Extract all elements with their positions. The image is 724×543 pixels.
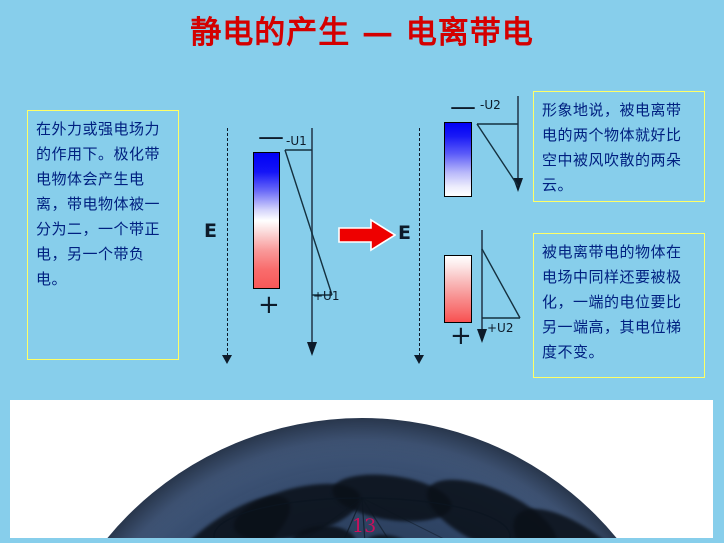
potential-label-negative-left: -U1 [286,135,307,148]
field-label-left: E [204,221,217,241]
minus-sign-right: — [450,94,476,120]
polarized-bar-left [253,152,280,289]
transition-arrow-icon [338,218,396,252]
field-line-left [227,128,228,356]
plus-sign-left: + [258,292,280,318]
page-title: 静电的产生 — 电离带电 [0,14,724,52]
field-arrowhead-left-icon [222,355,232,364]
field-arrowhead-right-icon [414,355,424,364]
potential-label-positive-right: +U2 [487,322,513,335]
potential-label-positive-left: +U1 [313,290,339,303]
positive-bar-right [444,255,472,323]
plus-sign-right: + [450,323,472,349]
callout-left: 在外力或强电场力的作用下。极化带电物体会产生电离，带电物体被一分为二，一个带正电… [27,110,179,360]
callout-bottom-right: 被电离带电的物体在电场中同样还要被极化，一端的电位要比另一端高，其电位梯度不变。 [533,233,705,378]
negative-bar-right [444,122,472,197]
field-label-right: E [398,223,411,243]
field-line-right [419,128,420,356]
potential-label-negative-right: -U2 [480,99,501,112]
page-number: 13 [352,515,376,537]
slide-canvas: 静电的产生 — 电离带电 在外力或强电场力的作用下。极化带电物体会产生电离，带电… [0,0,724,543]
potential-gradient-negative-right [474,96,534,206]
minus-sign-left: — [258,124,284,150]
callout-top-right: 形象地说，被电离带电的两个物体就好比空中被风吹散的两朵云。 [533,91,705,202]
